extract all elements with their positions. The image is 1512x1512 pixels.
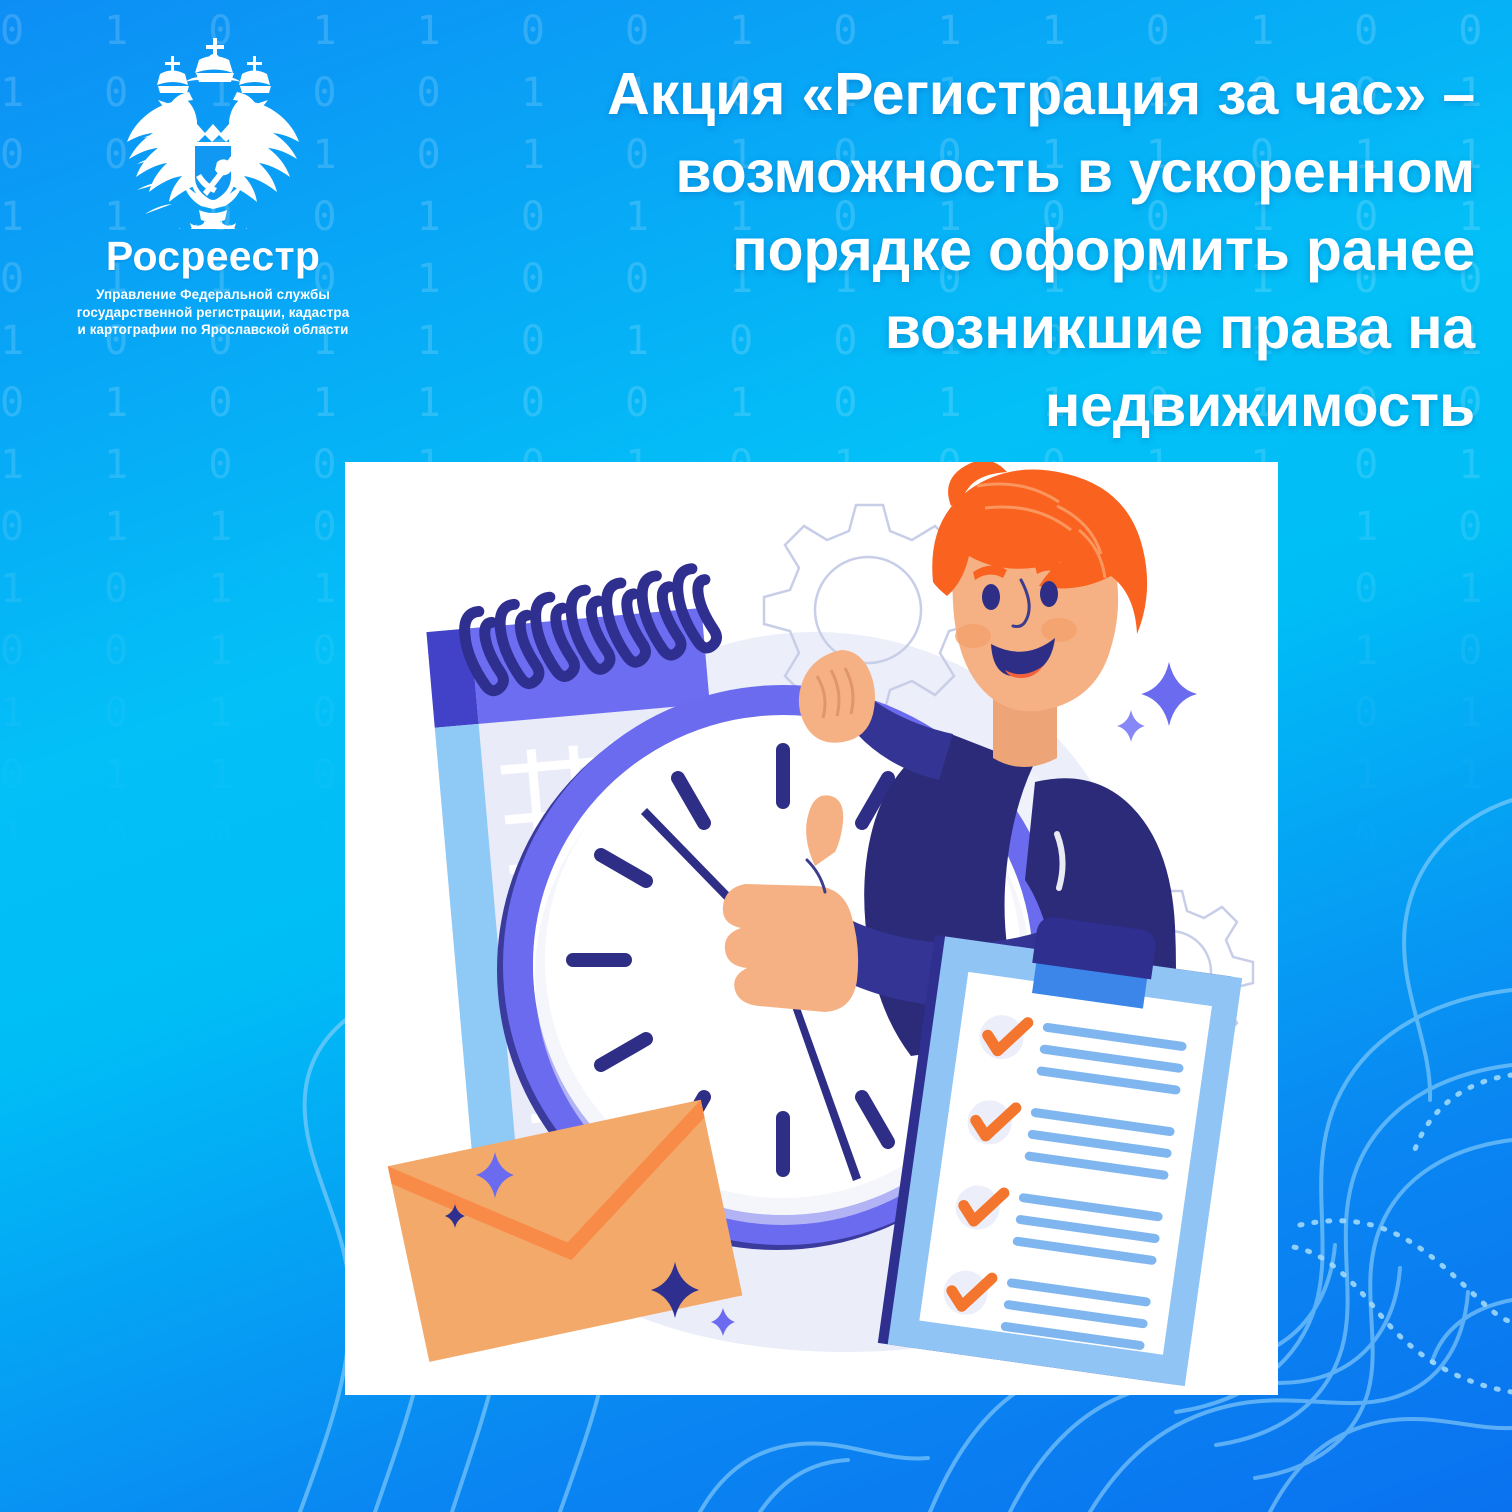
headline-line-1: Акция «Регистрация за час» – <box>455 55 1475 133</box>
brand-subtitle: Управление Федеральной службы государств… <box>38 286 388 339</box>
character-eye-right <box>1040 581 1058 607</box>
rosreestr-logo-block: Росреестр Управление Федеральной службы … <box>38 34 388 339</box>
illustration-card <box>345 462 1278 1395</box>
russian-double-headed-eagle-emblem-icon <box>113 34 313 229</box>
headline-line-2: возможность в ускоренном <box>455 133 1475 211</box>
poster-root: 0 1 0 1 1 0 0 1 0 1 1 0 1 0 0 1 1 0 1 0 … <box>0 0 1512 1512</box>
brand-name: Росреестр <box>38 235 388 278</box>
headline-line-5: недвижимость <box>455 367 1475 445</box>
page-title: Акция «Регистрация за час» – возможность… <box>455 55 1475 445</box>
brand-subtitle-line-1: Управление Федеральной службы <box>38 286 388 304</box>
checklist-clipboard <box>878 901 1247 1386</box>
brand-subtitle-line-2: государственной регистрации, кадастра <box>38 304 388 322</box>
headline-line-4: возникшие права на <box>455 289 1475 367</box>
brand-subtitle-line-3: и картографии по Ярославской области <box>38 321 388 339</box>
headline-line-3: порядке оформить ранее <box>455 211 1475 289</box>
character-eye-left <box>982 584 1000 610</box>
